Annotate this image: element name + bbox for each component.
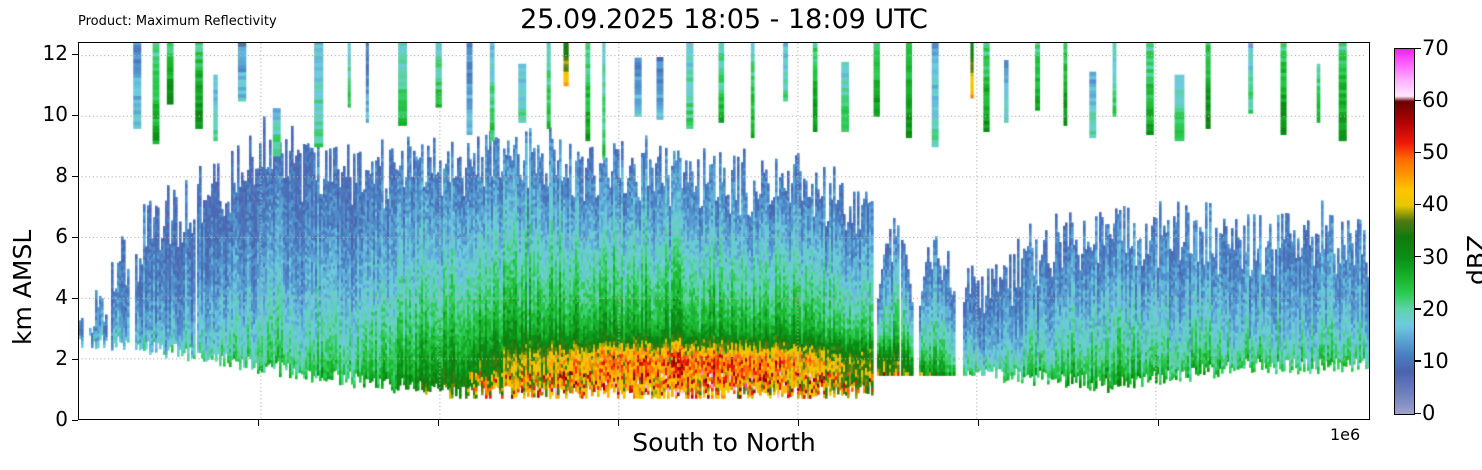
colorbar-tick-label: 10 xyxy=(1422,349,1449,373)
x-tick-mark xyxy=(798,420,799,426)
colorbar-tick-mark xyxy=(1414,256,1421,257)
x-tick-mark xyxy=(978,420,979,426)
colorbar-tick-mark xyxy=(1414,413,1421,414)
colorbar-tick-label: 50 xyxy=(1422,140,1449,164)
y-tick-label: 2 xyxy=(30,346,68,370)
colorbar-tick-mark xyxy=(1414,204,1421,205)
y-tick-label: 0 xyxy=(30,407,68,431)
colorbar-tick-mark xyxy=(1414,48,1421,49)
y-tick-mark xyxy=(72,420,78,421)
colorbar-tick-mark xyxy=(1414,308,1421,309)
reflectivity-heatmap xyxy=(79,43,1370,420)
colorbar-label: dBZ xyxy=(1462,235,1482,285)
y-tick-mark xyxy=(72,298,78,299)
colorbar-tick-label: 40 xyxy=(1422,192,1449,216)
x-tick-mark xyxy=(1158,420,1159,426)
radar-cross-section-figure: 25.09.2025 18:05 - 18:09 UTC Product: Ma… xyxy=(0,0,1482,470)
x-tick-mark xyxy=(258,420,259,426)
plot-area[interactable] xyxy=(78,42,1370,420)
x-axis-label: South to North xyxy=(78,428,1370,457)
x-tick-mark xyxy=(438,420,439,426)
y-tick-mark xyxy=(72,115,78,116)
colorbar-tick-label: 60 xyxy=(1422,88,1449,112)
y-tick-mark xyxy=(72,176,78,177)
y-tick-label: 12 xyxy=(30,41,68,65)
y-tick-label: 8 xyxy=(30,163,68,187)
colorbar-tick-label: 0 xyxy=(1422,401,1435,425)
y-tick-label: 4 xyxy=(30,285,68,309)
colorbar-gradient xyxy=(1394,48,1415,415)
x-tick-mark xyxy=(618,420,619,426)
colorbar-tick-label: 70 xyxy=(1422,36,1449,60)
colorbar-tick-mark xyxy=(1414,360,1421,361)
colorbar-tick-mark xyxy=(1414,100,1421,101)
y-tick-label: 10 xyxy=(30,102,68,126)
y-tick-label: 6 xyxy=(30,224,68,248)
y-tick-mark xyxy=(72,359,78,360)
x-axis-offset-text: 1e6 xyxy=(1330,425,1360,444)
colorbar[interactable] xyxy=(1394,48,1413,413)
colorbar-tick-mark xyxy=(1414,152,1421,153)
colorbar-tick-label: 20 xyxy=(1422,297,1449,321)
colorbar-tick-label: 30 xyxy=(1422,245,1449,269)
product-annotation: Product: Maximum Reflectivity xyxy=(78,14,277,29)
y-tick-mark xyxy=(72,237,78,238)
y-tick-mark xyxy=(72,54,78,55)
